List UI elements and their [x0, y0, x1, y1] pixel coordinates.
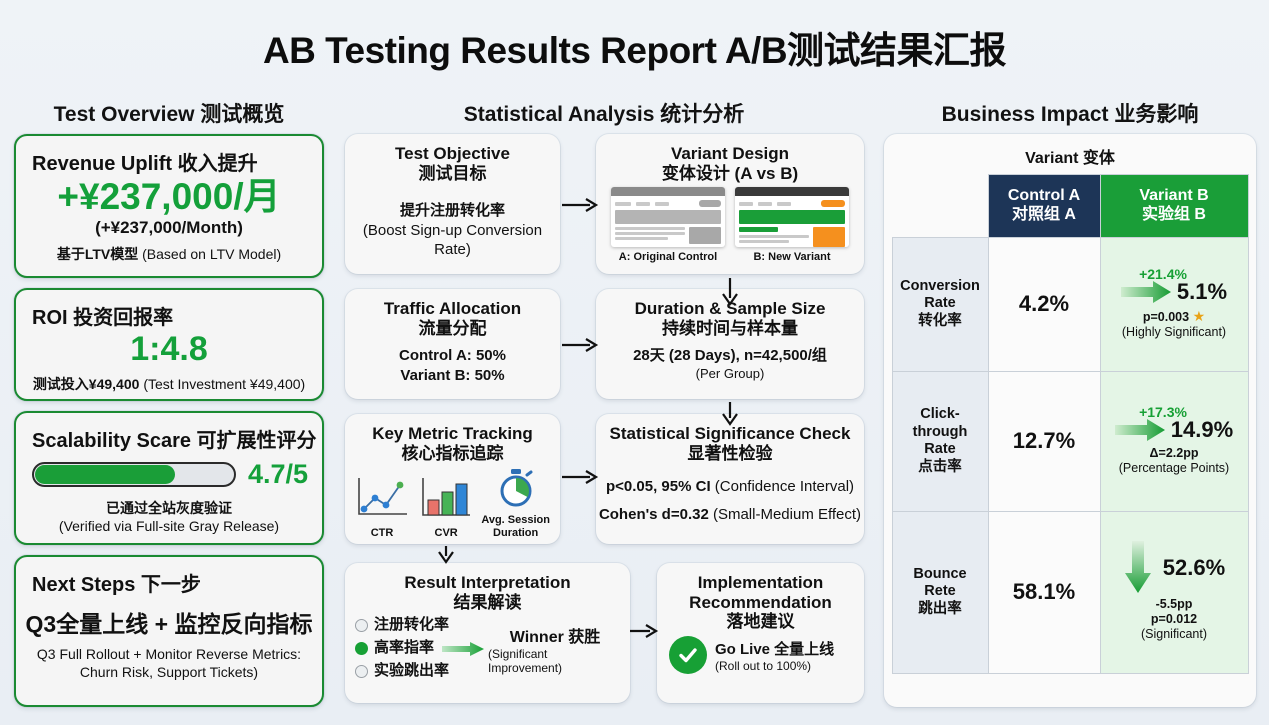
radio-selected-icon[interactable] — [355, 642, 368, 655]
mockup-a-wrap: A: Original Control — [611, 187, 725, 263]
next-steps-sub-1: Q3 Full Rollout + Monitor Reverse Metric… — [16, 645, 322, 663]
objective-title-cn: 测试目标 — [345, 164, 560, 184]
arrow-up-trend-icon-2 — [1115, 419, 1167, 441]
card-revenue-uplift: Revenue Uplift 收入提升 +¥237,000/月 (+¥237,0… — [14, 134, 324, 278]
scalability-note-cn: 已通过全站灰度验证 — [106, 500, 232, 516]
ctr-label: CTR — [353, 528, 411, 540]
row-2-metric: Bounce Rete 跳出率 — [892, 511, 988, 673]
result-bullet-0[interactable]: 注册转化率 — [355, 614, 486, 637]
implementation-title-cn: 落地建议 — [657, 612, 864, 632]
cvr-label: CVR — [418, 528, 474, 540]
control-header-cn: 对照组 A — [991, 206, 1098, 225]
roi-note-en: (Test Investment ¥49,400) — [143, 376, 305, 392]
significance-line-1-rest: (Confidence Interval) — [711, 478, 854, 495]
golive-label: Go Live 全量上线 — [715, 638, 834, 659]
row-2-note-sub: (Significant) — [1105, 627, 1244, 642]
roi-note: 测试投入¥49,400 (Test Investment ¥49,400) — [16, 374, 322, 394]
card-business-impact-table: Variant 变体 Control A 对照组 A Variant B 实验组… — [884, 134, 1256, 707]
arrow-keymetric-to-result — [435, 544, 457, 578]
significance-line-2-bold: Cohen's d=0.32 — [599, 506, 709, 523]
arrow-duration-to-significance — [719, 400, 741, 434]
radio-unselected-icon[interactable] — [355, 619, 368, 632]
duration-line-1: 28天 (28 Days), n=42,500/组 — [596, 346, 864, 365]
objective-body-en: (Boost Sign-up Conversion Rate) — [345, 221, 560, 259]
revenue-value: +¥237,000/月 — [16, 178, 322, 217]
revenue-note: 基于LTV模型 (Based on LTV Model) — [16, 244, 322, 264]
arrow-down-trend-icon — [1123, 541, 1153, 595]
table-header-row: Control A 对照组 A Variant B 实验组 B — [892, 175, 1248, 238]
card-traffic-allocation: Traffic Allocation 流量分配 Control A: 50% V… — [345, 289, 560, 399]
table-caption: Variant 变体 — [884, 134, 1256, 168]
row-2-note-bold: p=0.012 — [1105, 612, 1244, 627]
card-test-objective: Test Objective 测试目标 提升注册转化率 (Boost Sign-… — [345, 134, 560, 274]
row-0-metric: Conversion Rate 转化率 — [892, 237, 988, 371]
arrow-keymetric-to-significance — [560, 466, 604, 488]
scalability-score: 4.7/5 — [248, 459, 308, 490]
card-implementation-recommendation: Implementation Recommendation 落地建议 Go Li… — [657, 563, 864, 703]
arrow-result-to-implementation — [628, 620, 672, 642]
significance-line-2-rest: (Small-Medium Effect) — [709, 506, 861, 523]
row-2-control-value: 58.1% — [988, 511, 1100, 673]
next-steps-title: Next Steps 下一步 — [16, 557, 322, 597]
result-bullet-1[interactable]: 高率指率 — [355, 637, 486, 660]
row-0-note-sub: (Highly Significant) — [1105, 325, 1244, 340]
table-header-variant: Variant B 实验组 B — [1100, 175, 1248, 238]
key-metric-title-cn: 核心指标追踪 — [345, 444, 560, 464]
result-title-en: Result Interpretation — [345, 573, 630, 593]
scalability-note-cn-wrap: 已通过全站灰度验证 — [16, 498, 322, 518]
key-metric-title-en: Key Metric Tracking — [345, 424, 560, 444]
mockup-a-label: A: Original Control — [611, 251, 725, 263]
row-2-metric-cn: 跳出率 — [895, 601, 986, 619]
card-scalability: Scalability Scare 可扩展性评分 4.7/5 已通过全站灰度验证… — [14, 411, 324, 545]
winner-label: Winner 获胜 — [510, 623, 601, 647]
row-2-metric-en-2: Rete — [895, 583, 986, 601]
mockup-b-titlebar — [735, 187, 849, 196]
business-impact-table: Control A 对照组 A Variant B 实验组 B Conversi… — [892, 174, 1249, 674]
row-1-metric-cn: 点击率 — [895, 459, 986, 477]
implementation-title-en-2: Recommendation — [657, 593, 864, 613]
traffic-title-en: Traffic Allocation — [345, 299, 560, 319]
row-1-note-sub: (Percentage Points) — [1105, 461, 1244, 476]
objective-body-cn: 提升注册转化率 — [345, 201, 560, 220]
roi-note-cn: 测试投入¥49,400 — [33, 376, 140, 392]
line-chart-icon — [353, 474, 411, 522]
column-header-statistical-analysis: Statistical Analysis 统计分析 — [338, 98, 870, 128]
result-bullet-label-2: 实验跳出率 — [374, 660, 449, 683]
session-icon-wrap: Avg. Session Duration — [481, 467, 552, 539]
mockup-b — [735, 187, 849, 247]
duration-line-2: (Per Group) — [596, 366, 864, 381]
session-label-2: Duration — [481, 528, 550, 540]
result-bullets: 注册转化率 高率指率 实验跳出率 — [355, 614, 486, 682]
card-variant-design: Variant Design 变体设计 (A vs B) — [596, 134, 864, 274]
table-header-control: Control A 对照组 A — [988, 175, 1100, 238]
row-2-variant-value: 52.6% — [1163, 555, 1225, 581]
result-bullet-label-0: 注册转化率 — [374, 614, 449, 637]
row-2-delta: -5.5pp — [1105, 597, 1244, 612]
variant-header-en: Variant B — [1103, 187, 1246, 206]
variant-header-cn: 实验组 B — [1103, 206, 1246, 225]
revenue-note-en: (Based on LTV Model) — [142, 246, 281, 262]
row-0-metric-en-2: Rate — [895, 295, 986, 313]
arrow-variant-to-duration — [719, 276, 741, 310]
result-bullet-2[interactable]: 实验跳出率 — [355, 660, 486, 683]
next-steps-sub-2: Churn Risk, Support Tickets) — [16, 663, 322, 681]
variant-mockups: A: Original Control — [596, 183, 864, 263]
mockup-a-titlebar — [611, 187, 725, 196]
duration-title-cn: 持续时间与样本量 — [596, 319, 864, 339]
card-key-metric-tracking: Key Metric Tracking 核心指标追踪 CTR — [345, 414, 560, 544]
scalability-progress-bar — [32, 462, 236, 487]
variant-design-title-en: Variant Design — [596, 144, 864, 164]
ctr-icon-wrap: CTR — [353, 474, 411, 540]
mockup-b-wrap: B: New Variant — [735, 187, 849, 263]
scalability-progress-row: 4.7/5 — [16, 453, 322, 490]
card-next-steps: Next Steps 下一步 Q3全量上线 + 监控反向指标 Q3 Full R… — [14, 555, 324, 707]
traffic-control-line: Control A: 50% — [345, 346, 560, 365]
revenue-note-cn: 基于LTV模型 — [57, 246, 138, 262]
implementation-action-row: Go Live 全量上线 (Roll out to 100%) — [657, 632, 864, 674]
golive-sublabel: (Roll out to 100%) — [715, 659, 834, 673]
significance-line-1: p<0.05, 95% CI (Confidence Interval) — [596, 477, 864, 496]
row-0-metric-en-1: Conversion — [895, 278, 986, 296]
row-1-metric: Click-through Rate 点击率 — [892, 371, 988, 511]
row-1-metric-en-2: Rate — [895, 441, 986, 459]
result-bullet-label-1: 高率指率 — [374, 637, 434, 660]
row-1-variant-cell: +17.3% 14.9% Δ=2.2pp (Percentage Points) — [1100, 371, 1248, 511]
row-0-note-bold: p=0.003 — [1143, 310, 1189, 324]
mockup-a — [611, 187, 725, 247]
column-header-test-overview: Test Overview 测试概览 — [14, 98, 324, 128]
column-header-business-impact: Business Impact 业务影响 — [880, 98, 1260, 128]
card-roi: ROI 投资回报率 1:4.8 测试投入¥49,400 (Test Invest… — [14, 288, 324, 401]
traffic-variant-line: Variant B: 50% — [345, 366, 560, 385]
star-icon: ★ — [1193, 308, 1206, 324]
session-label-1: Avg. Session — [481, 515, 550, 527]
result-title-cn: 结果解读 — [345, 593, 630, 613]
row-2-metric-en-1: Bounce — [895, 566, 986, 584]
row-1-metric-en-1: Click-through — [895, 406, 986, 441]
next-steps-main: Q3全量上线 + 监控反向指标 — [16, 605, 322, 639]
card-result-interpretation: Result Interpretation 结果解读 注册转化率 高率指率 — [345, 563, 630, 703]
key-metric-icons: CTR CVR Avg. Session Dur — [345, 463, 560, 539]
control-header-en: Control A — [991, 187, 1098, 206]
row-1-variant-value: 14.9% — [1171, 417, 1233, 443]
significance-line-1-bold: p<0.05, 95% CI — [606, 478, 711, 495]
arrow-up-trend-icon — [1121, 281, 1173, 303]
row-2-variant-cell: 52.6% -5.5pp p=0.012 (Significant) — [1100, 511, 1248, 673]
row-0-variant-value: 5.1% — [1177, 279, 1227, 305]
stopwatch-icon — [494, 467, 538, 509]
page-title: AB Testing Results Report A/B测试结果汇报 — [0, 20, 1269, 74]
winner-box: Winner 获胜 (Significant Improvement) — [488, 614, 622, 682]
scalability-note-en: (Verified via Full-site Gray Release) — [16, 518, 322, 534]
row-0-note: p=0.003 ★ (Highly Significant) — [1105, 308, 1244, 340]
arrow-traffic-to-duration — [560, 334, 604, 356]
row-1-note: Δ=2.2pp (Percentage Points) — [1105, 446, 1244, 476]
revenue-value-en: (+¥237,000/Month) — [16, 218, 322, 238]
report-page: AB Testing Results Report A/B测试结果汇报 Test… — [0, 0, 1269, 725]
row-1-note-bold: Δ=2.2pp — [1105, 446, 1244, 461]
objective-title-en: Test Objective — [345, 144, 560, 164]
significance-title-cn: 显著性检验 — [596, 444, 864, 464]
bar-chart-icon — [418, 474, 474, 522]
revenue-title: Revenue Uplift 收入提升 — [16, 136, 322, 176]
significance-line-2: Cohen's d=0.32 (Small-Medium Effect) — [596, 505, 864, 524]
table-row: Bounce Rete 跳出率 58.1% 52.6% -5.5pp — [892, 511, 1248, 673]
variant-design-title-cn: 变体设计 (A vs B) — [596, 164, 864, 184]
table-corner-blank — [892, 175, 988, 238]
table-row: Click-through Rate 点击率 12.7% +17.3% 14.9… — [892, 371, 1248, 511]
cvr-icon-wrap: CVR — [418, 474, 474, 540]
row-1-control-value: 12.7% — [988, 371, 1100, 511]
arrow-objective-to-variant — [560, 194, 604, 216]
table-row: Conversion Rate 转化率 4.2% +21.4% 5.1% — [892, 237, 1248, 371]
row-2-note: -5.5pp p=0.012 (Significant) — [1105, 597, 1244, 642]
traffic-title-cn: 流量分配 — [345, 319, 560, 339]
row-0-metric-cn: 转化率 — [895, 313, 986, 331]
winner-sublabel: (Significant Improvement) — [488, 647, 622, 675]
mockup-b-label: B: New Variant — [735, 251, 849, 263]
row-0-variant-cell: +21.4% 5.1% p=0.003 ★ (Highly Significan… — [1100, 237, 1248, 371]
check-circle-icon — [669, 636, 707, 674]
scalability-title: Scalability Scare 可扩展性评分 — [16, 413, 322, 453]
implementation-title-en-1: Implementation — [657, 573, 864, 593]
arrow-right-green-icon — [442, 642, 486, 656]
roi-value: 1:4.8 — [16, 332, 322, 368]
radio-unselected-icon-2[interactable] — [355, 665, 368, 678]
scalability-progress-fill — [35, 465, 175, 484]
row-0-control-value: 4.2% — [988, 237, 1100, 371]
roi-title: ROI 投资回报率 — [16, 290, 322, 330]
